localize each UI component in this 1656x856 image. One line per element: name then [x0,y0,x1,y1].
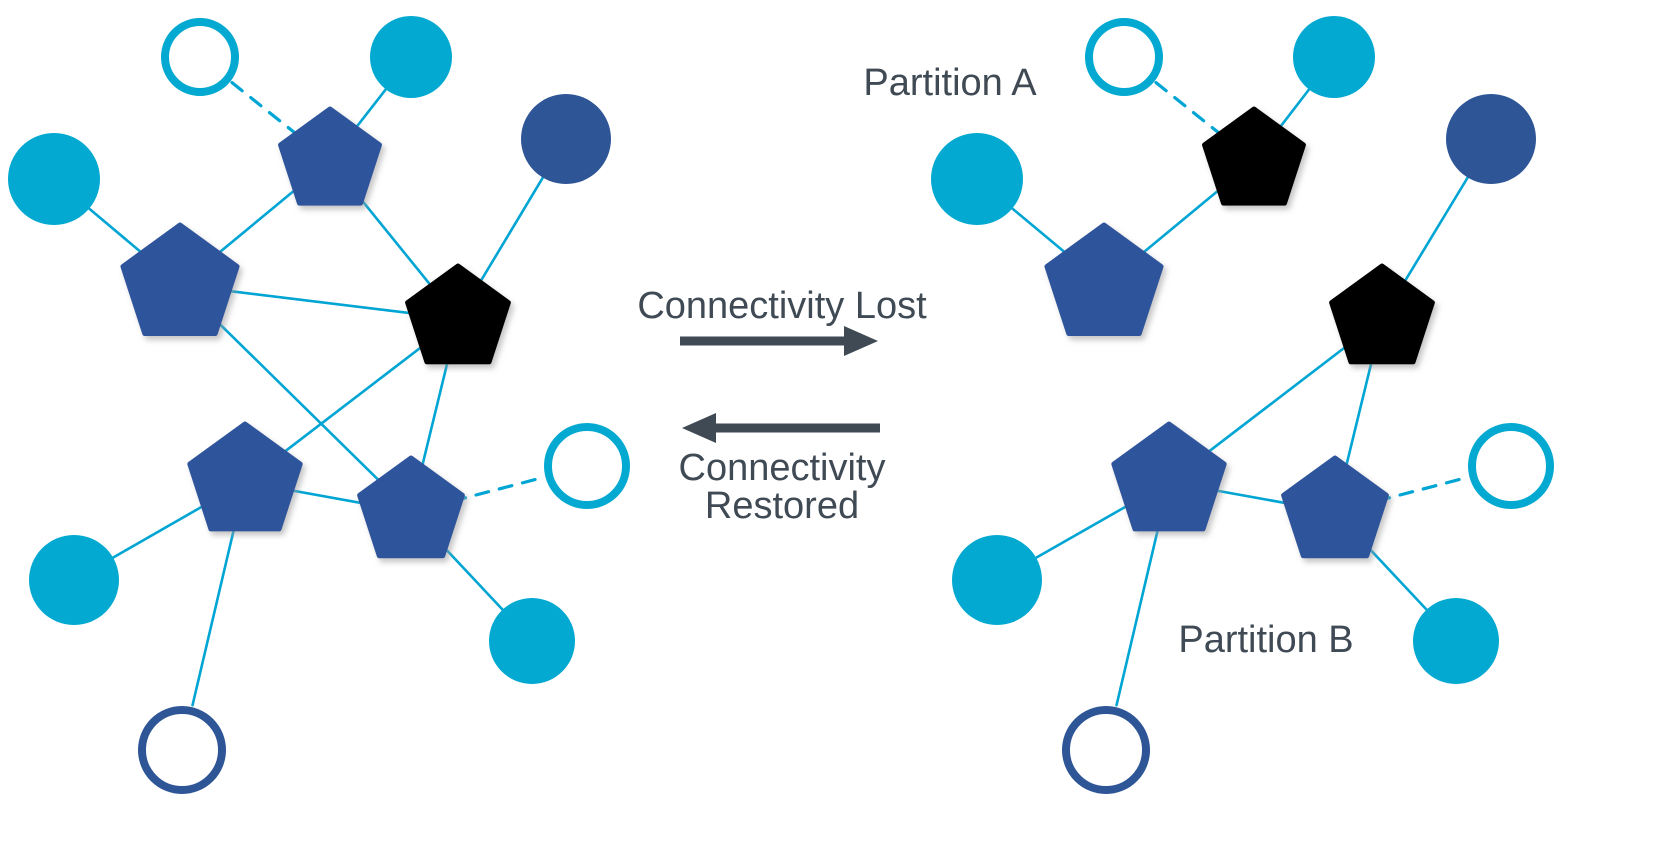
partition-b-label: Partition B [1178,619,1353,661]
right-graph-nodes [931,16,1550,790]
edge-L-p5-L-c5 [453,477,544,501]
node-circle-R-c3[interactable] [1446,94,1536,184]
node-circle-L-c2[interactable] [370,16,452,98]
edge-L-c6-L-p4 [113,505,205,558]
connectivity-restored-label-line1: Connectivity [679,447,886,489]
edge-L-p3-L-p4 [282,345,424,454]
edge-L-p2-L-p3 [228,291,416,314]
edge-R-p4-R-p5 [1215,490,1293,504]
left-graph-nodes [8,16,626,790]
node-circle-R-c4[interactable] [931,133,1023,225]
node-circle-L-c7[interactable] [489,598,575,684]
connectivity-lost-arrow [680,326,878,356]
node-circle-L-c5[interactable] [548,427,626,505]
edge-L-c2-L-p1 [356,89,386,128]
edge-L-p4-L-c8 [193,527,235,705]
connectivity-restored-arrow [682,413,880,443]
edge-L-p5-L-c7 [441,544,503,610]
edge-R-c3-R-p3 [1404,177,1468,282]
edge-R-c4-R-p2 [1012,208,1067,254]
node-pentagon-R-p3[interactable] [1332,266,1433,362]
node-pentagon-L-p4[interactable] [190,424,300,529]
node-circle-R-c5[interactable] [1472,427,1550,505]
node-circle-R-c8[interactable] [1066,710,1146,790]
network-partition-diagram: Connectivity Lost Connectivity Restored … [0,0,1656,856]
edge-L-p1-L-p3 [356,193,431,286]
edge-L-c3-L-p3 [480,178,543,283]
connectivity-restored-arrow-head [682,413,716,443]
edge-L-c4-L-p2 [89,209,143,254]
edge-L-c1-L-p1 [232,83,297,135]
node-pentagon-L-p3[interactable] [408,266,509,362]
node-circle-L-c6[interactable] [29,535,119,625]
node-pentagon-R-p4[interactable] [1114,424,1224,529]
node-circle-R-c6[interactable] [952,535,1042,625]
node-circle-R-c2[interactable] [1293,16,1375,98]
edge-R-c2-R-p1 [1279,90,1309,129]
connectivity-lost-label: Connectivity Lost [637,285,927,327]
edge-L-p4-L-p5 [291,490,369,504]
node-circle-R-c1[interactable] [1089,22,1159,92]
node-circle-L-c8[interactable] [142,710,222,790]
edge-L-p3-L-p5 [421,360,448,470]
node-circle-R-c7[interactable] [1413,598,1499,684]
edge-R-p5-R-c7 [1365,544,1427,610]
edge-R-p5-R-c5 [1377,477,1468,501]
edge-R-p3-R-p4 [1206,345,1348,454]
connectivity-restored-label-line2: Restored [705,485,859,527]
edge-R-p4-R-c8 [1117,527,1159,705]
node-circle-L-c3[interactable] [521,94,611,184]
node-pentagon-R-p2[interactable] [1047,225,1161,334]
node-pentagon-L-p5[interactable] [360,458,463,556]
node-pentagon-R-p1[interactable] [1205,109,1304,203]
edge-R-c1-R-p1 [1156,83,1222,135]
partition-a-label: Partition A [863,62,1037,104]
connectivity-lost-arrow-head [844,326,878,356]
edge-R-p3-R-p5 [1345,360,1372,470]
edge-L-p1-L-p2 [217,188,298,255]
node-pentagon-L-p2[interactable] [123,225,237,334]
transition-arrows [680,326,880,443]
node-pentagon-L-p1[interactable] [281,109,380,203]
node-pentagon-R-p5[interactable] [1284,458,1387,556]
edge-R-p1-R-p2 [1141,188,1222,255]
node-circle-L-c4[interactable] [8,133,100,225]
diagram-canvas: Connectivity Lost Connectivity Restored … [0,0,1656,856]
edge-R-c6-R-p4 [1036,505,1129,558]
node-circle-L-c1[interactable] [165,22,235,92]
